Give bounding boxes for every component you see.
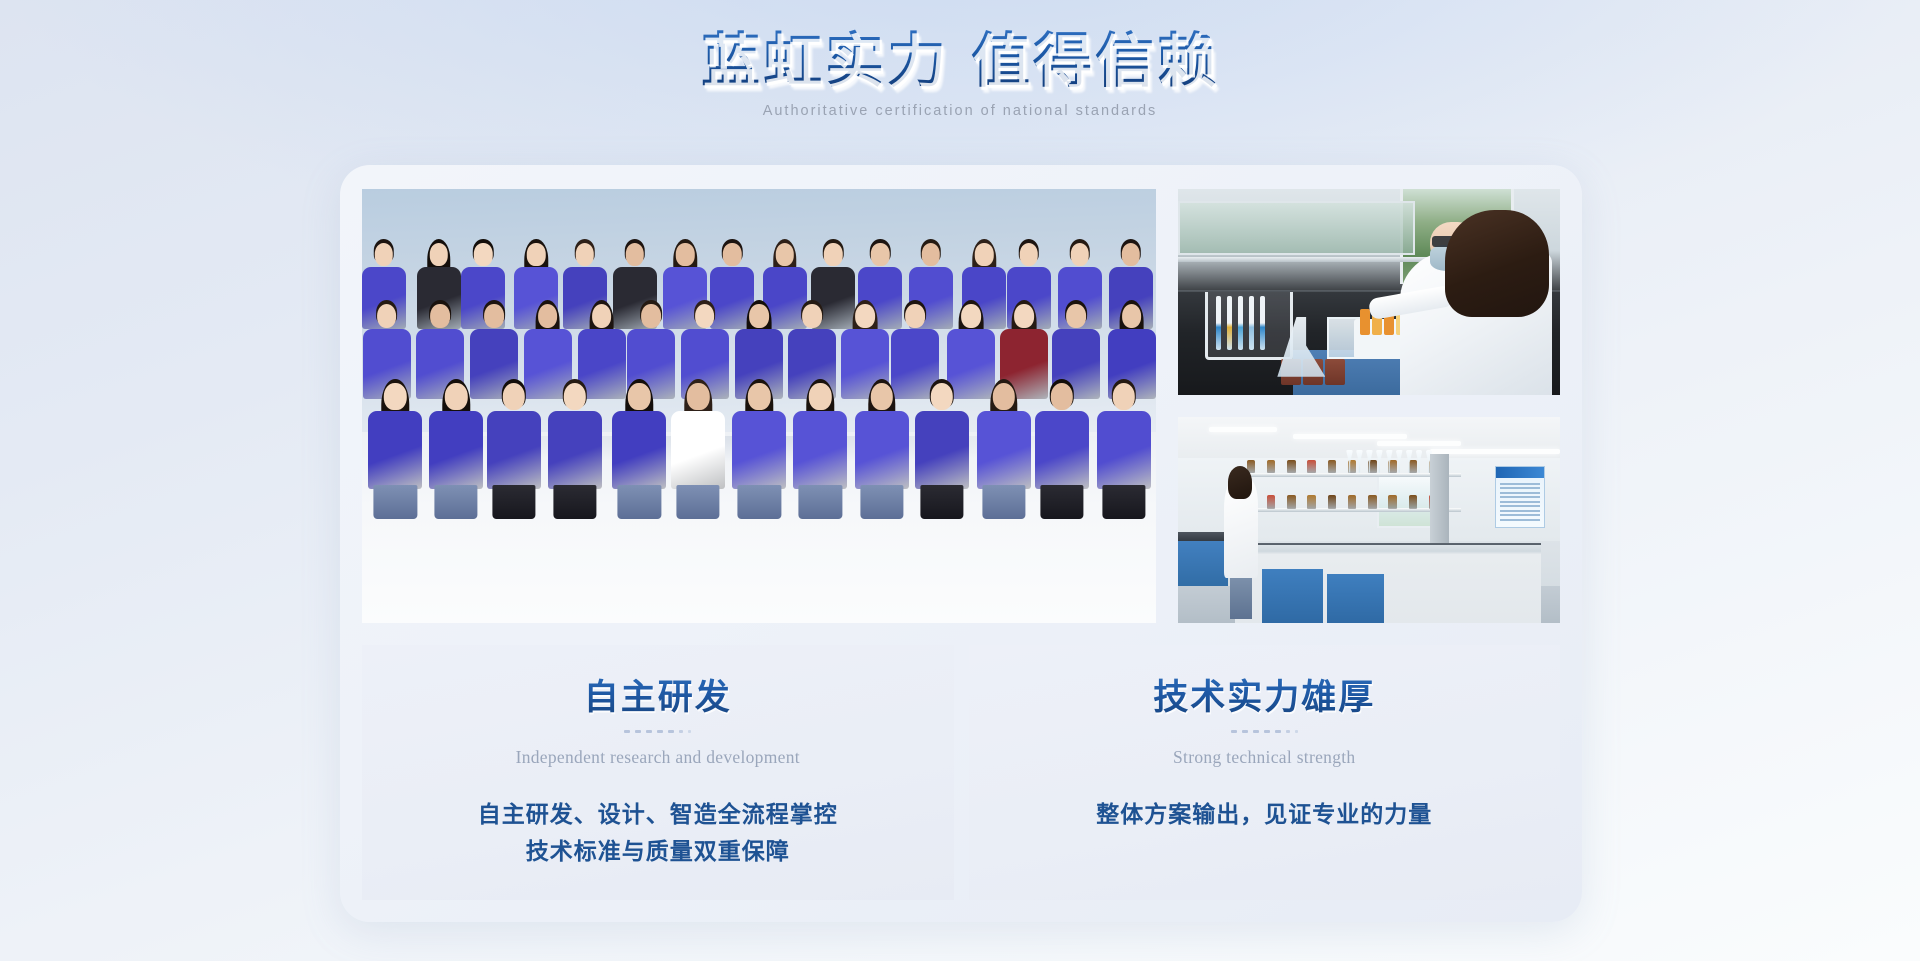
reagent-shelf-upper xyxy=(1231,473,1460,477)
group-photo-people xyxy=(362,241,1156,545)
person-head xyxy=(430,243,448,266)
person-head xyxy=(809,383,831,411)
ceiling-light xyxy=(1377,441,1461,446)
person-head xyxy=(871,243,889,266)
group-photo-person xyxy=(1097,381,1151,499)
feature-card-desc-line1: 自主研发、设计、智造全流程掌控 xyxy=(478,796,838,833)
person-head xyxy=(855,304,875,328)
reagent-bottle xyxy=(1287,495,1295,509)
person-head xyxy=(575,243,593,266)
person-legs xyxy=(618,485,661,519)
laboratory-technician-pipetting xyxy=(1178,189,1560,395)
media-row xyxy=(362,189,1560,623)
person-head xyxy=(430,304,450,328)
person-legs xyxy=(860,485,903,519)
lab-glass-shelf xyxy=(1178,201,1415,255)
company-team-group-photo xyxy=(362,189,1156,623)
reagent-bottle xyxy=(1267,495,1275,509)
reagent-bottle xyxy=(1388,495,1396,509)
person-head xyxy=(377,304,397,328)
person-head xyxy=(723,243,741,266)
person-torso xyxy=(368,411,422,489)
person-legs xyxy=(982,485,1025,519)
person-head xyxy=(1066,304,1086,328)
person-legs xyxy=(920,485,963,519)
person-head xyxy=(931,383,953,411)
lab-shelf-rail xyxy=(1178,257,1430,262)
pipette xyxy=(1238,296,1243,350)
person-head xyxy=(1070,243,1088,266)
person-torso xyxy=(429,411,483,489)
group-photo-person xyxy=(429,381,483,499)
person-head xyxy=(961,304,981,328)
person-head xyxy=(1014,304,1034,328)
reagent-bottle xyxy=(1325,359,1345,385)
poster-text-line xyxy=(1500,501,1540,503)
pipette-set xyxy=(1216,296,1277,350)
reagent-bottle xyxy=(1267,460,1275,473)
person-head xyxy=(625,243,643,266)
person-head xyxy=(1051,383,1073,411)
island-cabinet-right xyxy=(1327,574,1384,623)
person-legs xyxy=(374,485,417,519)
feature-card-technical-strength[interactable]: 技术实力雄厚 Strong technical strength 整体方案输出，… xyxy=(969,645,1561,900)
person-head xyxy=(1020,243,1038,266)
card-divider-dots xyxy=(624,730,691,733)
poster-text-line xyxy=(1500,519,1540,521)
person-torso xyxy=(977,411,1031,489)
person-torso xyxy=(548,411,602,489)
group-photo-person xyxy=(793,381,847,499)
poster-text-line xyxy=(1500,505,1540,507)
pipette xyxy=(1249,296,1254,350)
side-cabinet xyxy=(1178,541,1228,586)
pipette xyxy=(1260,296,1265,350)
person-head xyxy=(776,243,794,266)
feature-card-independent-rd[interactable]: 自主研发 Independent research and developmen… xyxy=(362,645,954,900)
person-torso xyxy=(915,411,969,489)
person-legs xyxy=(799,485,842,519)
poster-text-line xyxy=(1500,483,1540,485)
group-photo-person xyxy=(368,381,422,499)
group-photo-person xyxy=(977,381,1031,499)
feature-card-title: 自主研发 xyxy=(584,669,732,720)
person-legs xyxy=(677,485,720,519)
person-head xyxy=(695,304,715,328)
content-panel: 自主研发 Independent research and developmen… xyxy=(340,165,1582,922)
person-head xyxy=(474,243,492,266)
person-head xyxy=(870,383,892,411)
person-head xyxy=(687,383,709,411)
reagent-bottle xyxy=(1348,495,1356,509)
lab-worker-legs xyxy=(1230,574,1253,619)
person-head xyxy=(484,304,504,328)
person-head xyxy=(384,383,406,411)
ceiling-light xyxy=(1430,449,1560,454)
lab-worker-hair xyxy=(1228,466,1253,499)
group-photo-person xyxy=(915,381,969,499)
person-torso xyxy=(732,411,786,489)
person-head xyxy=(676,243,694,266)
group-photo-person xyxy=(855,381,909,499)
person-head xyxy=(1122,304,1142,328)
person-head xyxy=(564,383,586,411)
lab-photo-column xyxy=(1178,189,1560,623)
reagent-bottle xyxy=(1328,460,1336,473)
reagent-bottle xyxy=(1287,460,1295,473)
person-head xyxy=(748,383,770,411)
person-head xyxy=(445,383,467,411)
poster-text-line xyxy=(1500,492,1540,494)
technician-hair xyxy=(1445,210,1548,317)
feature-card-description: 整体方案输出，见证专业的力量 xyxy=(1096,796,1432,833)
person-head xyxy=(592,304,612,328)
person-head xyxy=(922,243,940,266)
page-title: 蓝虹实力值得信赖 xyxy=(701,28,1219,94)
person-legs xyxy=(435,485,478,519)
group-photo-person xyxy=(1035,381,1089,499)
ceiling-light xyxy=(1209,427,1278,432)
person-head xyxy=(993,383,1015,411)
person-head xyxy=(641,304,661,328)
feature-card-desc-line2: 技术标准与质量双重保障 xyxy=(478,833,838,870)
person-legs xyxy=(492,485,535,519)
person-torso xyxy=(612,411,666,489)
feature-card-title: 技术实力雄厚 xyxy=(1153,669,1375,720)
person-head xyxy=(527,243,545,266)
poster-text-line xyxy=(1500,487,1540,489)
safety-poster xyxy=(1495,466,1545,528)
poster-text-line xyxy=(1500,496,1540,498)
person-legs xyxy=(1102,485,1145,519)
person-head xyxy=(375,243,393,266)
reagent-bottle xyxy=(1409,495,1417,509)
pipette xyxy=(1227,296,1232,350)
person-torso xyxy=(671,411,725,489)
person-head xyxy=(905,304,925,328)
reagent-bottle xyxy=(1368,495,1376,509)
reagent-shelf-lower xyxy=(1231,508,1460,512)
reagent-bottle xyxy=(1307,495,1315,509)
page-subtitle: Authoritative certification of national … xyxy=(0,103,1920,119)
person-head xyxy=(538,304,558,328)
page-title-part2: 值得信赖 xyxy=(971,28,1219,94)
poster-text-line xyxy=(1500,510,1540,512)
person-torso xyxy=(1097,411,1151,489)
page-title-part1: 蓝虹实力 xyxy=(701,28,949,94)
group-photo-person xyxy=(548,381,602,499)
person-head xyxy=(1112,383,1134,411)
group-photo-person xyxy=(671,381,725,499)
feature-card-desc-line1: 整体方案输出，见证专业的力量 xyxy=(1096,796,1432,833)
person-legs xyxy=(1040,485,1083,519)
person-head xyxy=(749,304,769,328)
pipette xyxy=(1216,296,1221,350)
feature-card-english-subtitle: Strong technical strength xyxy=(1173,747,1355,768)
person-head xyxy=(824,243,842,266)
ceiling-light xyxy=(1293,434,1408,439)
reagent-bottle xyxy=(1409,460,1417,473)
laboratory-room-overview xyxy=(1178,417,1560,623)
page-header: 蓝虹实力值得信赖 Authoritative certification of … xyxy=(0,0,1920,119)
feature-cards-row: 自主研发 Independent research and developmen… xyxy=(362,645,1560,900)
person-torso xyxy=(793,411,847,489)
person-head xyxy=(1122,243,1140,266)
poster-text-line xyxy=(1500,514,1540,516)
person-torso xyxy=(487,411,541,489)
person-torso xyxy=(855,411,909,489)
person-head xyxy=(975,243,993,266)
person-head xyxy=(802,304,822,328)
test-tube xyxy=(1360,309,1370,335)
person-legs xyxy=(738,485,781,519)
group-photo-person xyxy=(732,381,786,499)
island-cabinet-left xyxy=(1262,569,1323,623)
group-photo-person xyxy=(487,381,541,499)
person-legs xyxy=(553,485,596,519)
person-head xyxy=(503,383,525,411)
feature-card-english-subtitle: Independent research and development xyxy=(516,747,800,768)
feature-card-description: 自主研发、设计、智造全流程掌控 技术标准与质量双重保障 xyxy=(478,796,838,871)
card-divider-dots xyxy=(1231,730,1298,733)
reagent-bottle xyxy=(1328,495,1336,509)
group-photo-person xyxy=(612,381,666,499)
person-head xyxy=(628,383,650,411)
person-torso xyxy=(1035,411,1089,489)
reagent-bottle xyxy=(1307,460,1315,473)
